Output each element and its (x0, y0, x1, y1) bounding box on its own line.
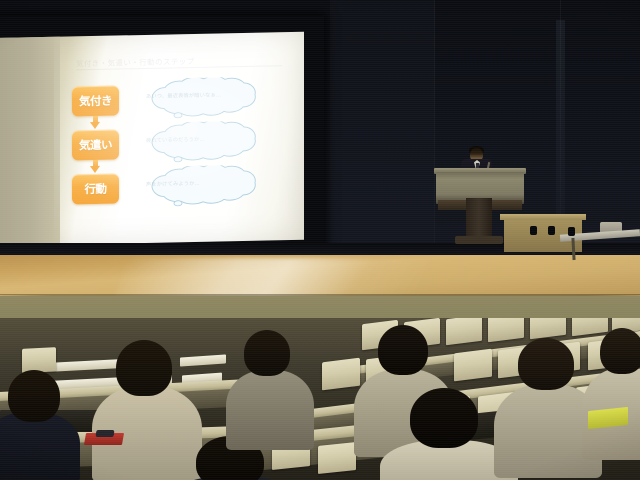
stage-speaker-icon (548, 226, 555, 235)
attendee-head (378, 325, 428, 375)
lecture-hall-photo: 気付き・気遣い・行動のステップ 気付き あいつ、最近表 (0, 0, 640, 480)
side-table-top (500, 214, 586, 220)
empty-seat (22, 347, 56, 373)
podium-base (455, 236, 503, 244)
lit-desk-surface (180, 354, 226, 366)
stage-speaker-icon (568, 227, 575, 236)
empty-seat (572, 318, 608, 336)
flow-step: 行動 声をかけてみようか… (72, 168, 294, 216)
attendee-head (244, 330, 290, 376)
flow-chip-label: 行動 (85, 181, 107, 197)
empty-seat (446, 318, 482, 345)
wall-panel (330, 0, 434, 250)
thought-bubble: 疲れているのだろうか… (130, 120, 280, 163)
slide-content: 気付き・気遣い・行動のステップ 気付き あいつ、最近表 (62, 32, 304, 245)
slide-flow-diagram: 気付き あいつ、最近表情が暗いなぁ… (72, 80, 294, 216)
empty-seat (530, 318, 566, 339)
projection-screen: 気付き・気遣い・行動のステップ 気付き あいつ、最近表 (0, 32, 304, 246)
attendee-head (410, 388, 478, 448)
projection-screen-frame: 気付き・気遣い・行動のステップ 気付き あいつ、最近表 (0, 16, 324, 266)
flow-chip-label: 気遣い (79, 137, 112, 154)
empty-seat (454, 349, 492, 382)
attendee-head (8, 370, 60, 422)
attendee-head (600, 328, 640, 374)
flow-chip-consideration: 気遣い (72, 129, 119, 160)
empty-seat (322, 358, 360, 391)
flow-chip-label: 気付き (79, 93, 112, 110)
thought-bubble: 声をかけてみようか… (130, 164, 280, 207)
empty-seat (318, 442, 356, 474)
attendee-torso (0, 412, 80, 480)
attendee-head (116, 340, 172, 396)
flow-chip-action: 行動 (72, 173, 119, 204)
empty-seat (488, 318, 524, 342)
dark-device (96, 430, 115, 437)
thought-bubble: あいつ、最近表情が暗いなぁ… (130, 76, 280, 119)
attendee-torso (226, 370, 314, 450)
flow-chip-awareness: 気付き (72, 85, 119, 116)
stage-speaker-icon (530, 226, 537, 235)
attendee-head (518, 338, 574, 390)
screen-unlit-area (0, 37, 60, 246)
